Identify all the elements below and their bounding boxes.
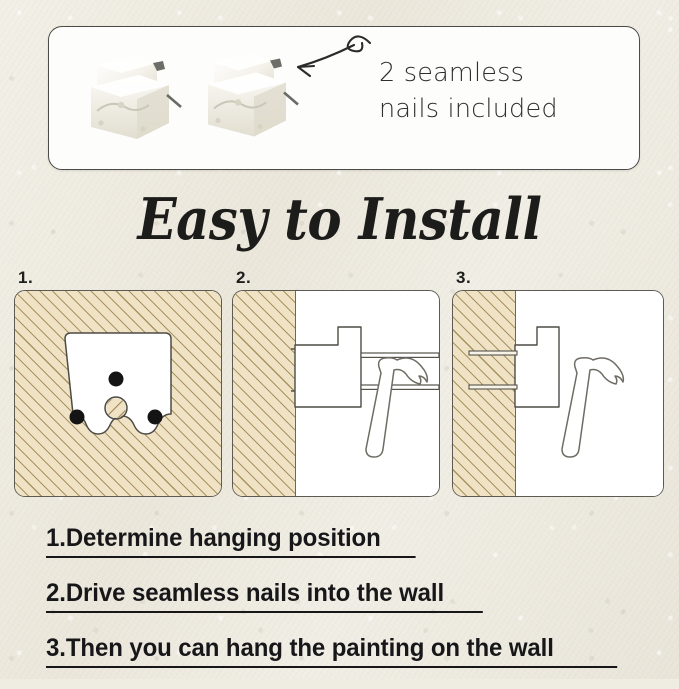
instruction-step-2: 2.Drive seamless nails into the wall bbox=[46, 579, 483, 613]
infographic-page: 2 seamless nails included Easy to Instal… bbox=[0, 0, 679, 679]
nail-shaft bbox=[361, 353, 439, 357]
step-3-illustration bbox=[452, 290, 664, 497]
clip-side-view-icon bbox=[233, 291, 439, 496]
nail-shaft bbox=[361, 385, 439, 389]
instruction-list: 1.Determine hanging position 2.Drive sea… bbox=[46, 524, 646, 689]
seamless-nails-card: 2 seamless nails included bbox=[48, 26, 640, 170]
step-1-illustration bbox=[14, 290, 222, 497]
card-headline-line-1: 2 seamless bbox=[379, 55, 624, 91]
nail-embedded bbox=[469, 351, 517, 355]
step-2-illustration bbox=[232, 290, 440, 497]
hammer-icon bbox=[562, 358, 623, 457]
seamless-nail-clip-photo-1 bbox=[77, 47, 185, 157]
step-number-2: 2. bbox=[236, 268, 251, 288]
center-hole-hatch-fill bbox=[15, 291, 221, 496]
instruction-step-1: 1.Determine hanging position bbox=[46, 524, 416, 558]
card-headline-line-2: nails included bbox=[379, 91, 624, 127]
instruction-step-3: 3.Then you can hang the painting on the … bbox=[46, 634, 617, 668]
page-title: Easy to Install bbox=[34, 186, 645, 253]
step-number-1: 1. bbox=[18, 268, 33, 288]
clip-mounted-side-view-icon bbox=[453, 291, 663, 496]
nail-embedded bbox=[469, 385, 517, 389]
card-headline: 2 seamless nails included bbox=[379, 55, 624, 127]
curved-arrow-icon bbox=[264, 29, 374, 89]
hammer-icon bbox=[366, 358, 427, 457]
step-number-3: 3. bbox=[456, 268, 471, 288]
